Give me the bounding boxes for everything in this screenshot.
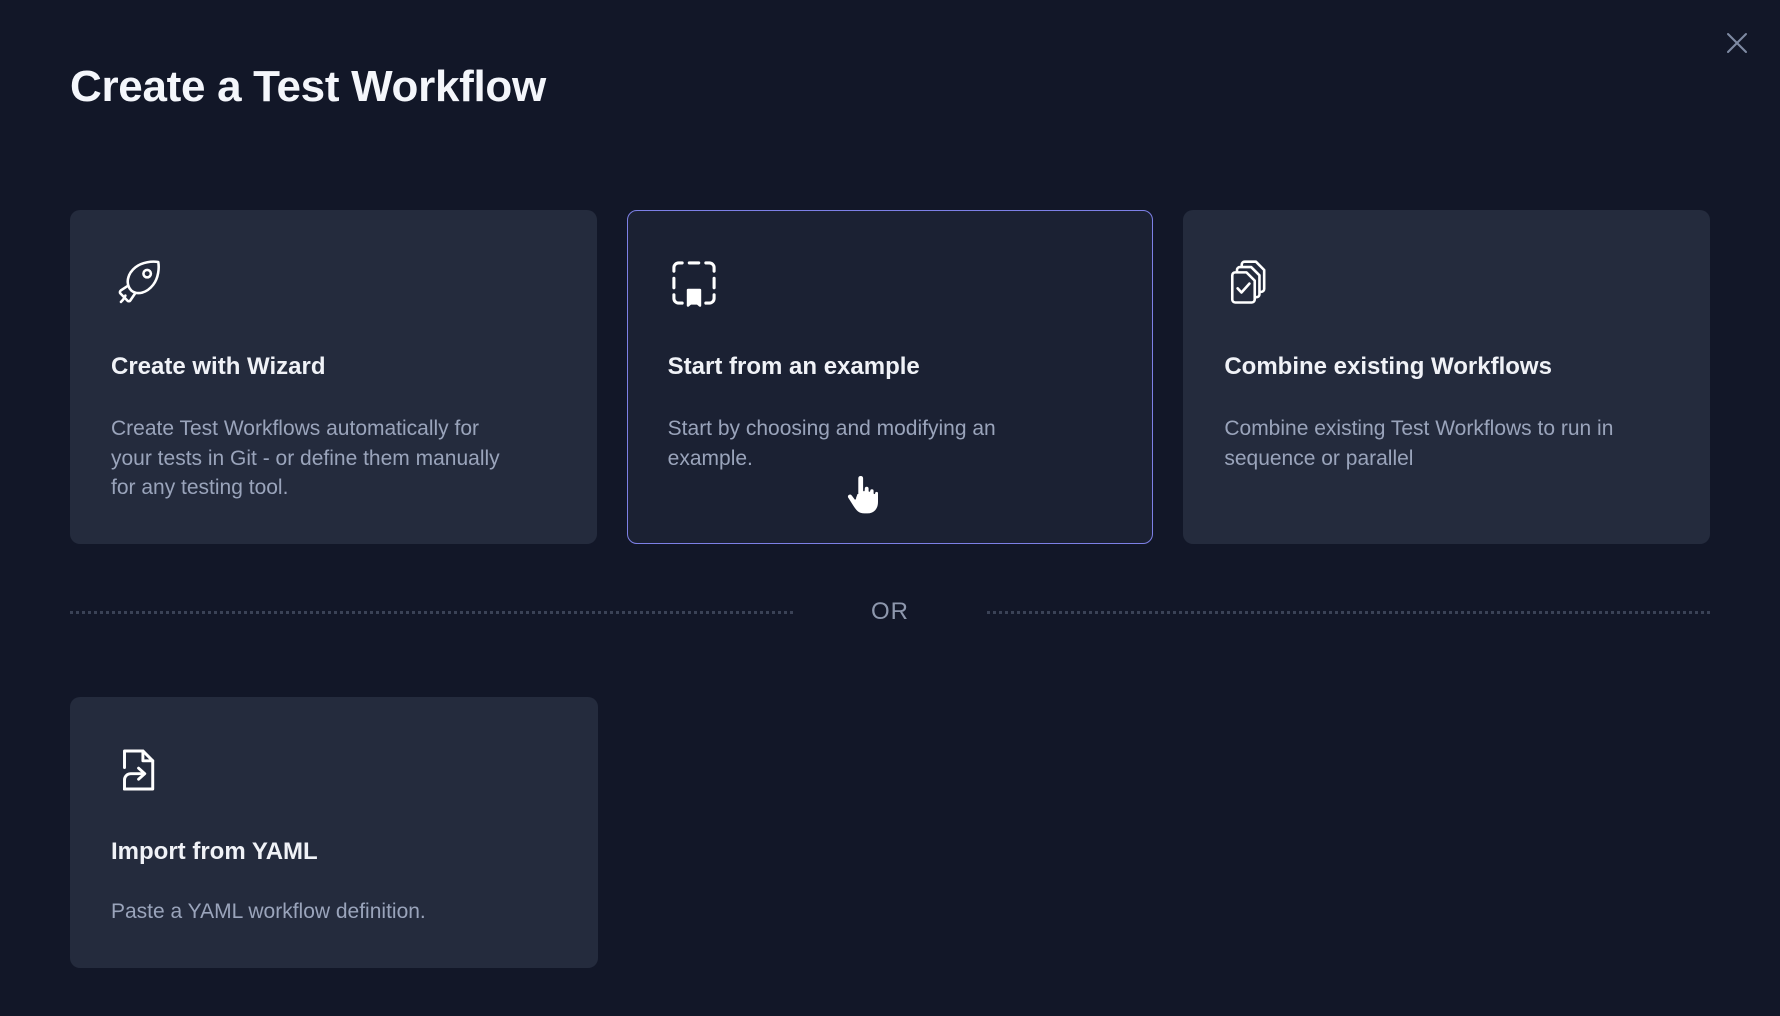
option-card-start-from-an-example[interactable]: Start from an example Start by choosing … [627, 210, 1154, 544]
divider-line-left [70, 611, 793, 614]
option-card-title: Import from YAML [111, 838, 557, 867]
create-test-workflow-dialog: Create a Test Workflow Create with Wizar… [0, 0, 1780, 1016]
file-import-icon [111, 742, 557, 798]
option-card-title: Start from an example [668, 353, 1113, 382]
or-divider: OR [70, 598, 1710, 626]
option-card-combine-existing-workflows[interactable]: Combine existing Workflows Combine exist… [1183, 210, 1710, 544]
example-template-icon [668, 255, 1113, 311]
page-title: Create a Test Workflow [70, 62, 546, 113]
close-button[interactable] [1716, 22, 1758, 64]
option-card-description: Create Test Workflows automatically for … [111, 414, 511, 503]
option-card-create-with-wizard[interactable]: Create with Wizard Create Test Workflows… [70, 210, 597, 544]
option-card-description: Combine existing Test Workflows to run i… [1224, 414, 1624, 474]
primary-options-row: Create with Wizard Create Test Workflows… [70, 210, 1710, 544]
stacked-documents-check-icon [1224, 255, 1669, 311]
close-icon [1724, 30, 1750, 56]
option-card-description: Paste a YAML workflow definition. [111, 897, 511, 927]
rocket-icon [111, 255, 556, 311]
option-card-title: Combine existing Workflows [1224, 353, 1669, 382]
option-card-description: Start by choosing and modifying an examp… [668, 414, 1068, 474]
secondary-options-row: Import from YAML Paste a YAML workflow d… [70, 697, 1710, 968]
divider-label: OR [793, 598, 987, 626]
divider-line-right [987, 611, 1710, 614]
option-card-title: Create with Wizard [111, 353, 556, 382]
option-card-import-from-yaml[interactable]: Import from YAML Paste a YAML workflow d… [70, 697, 598, 968]
